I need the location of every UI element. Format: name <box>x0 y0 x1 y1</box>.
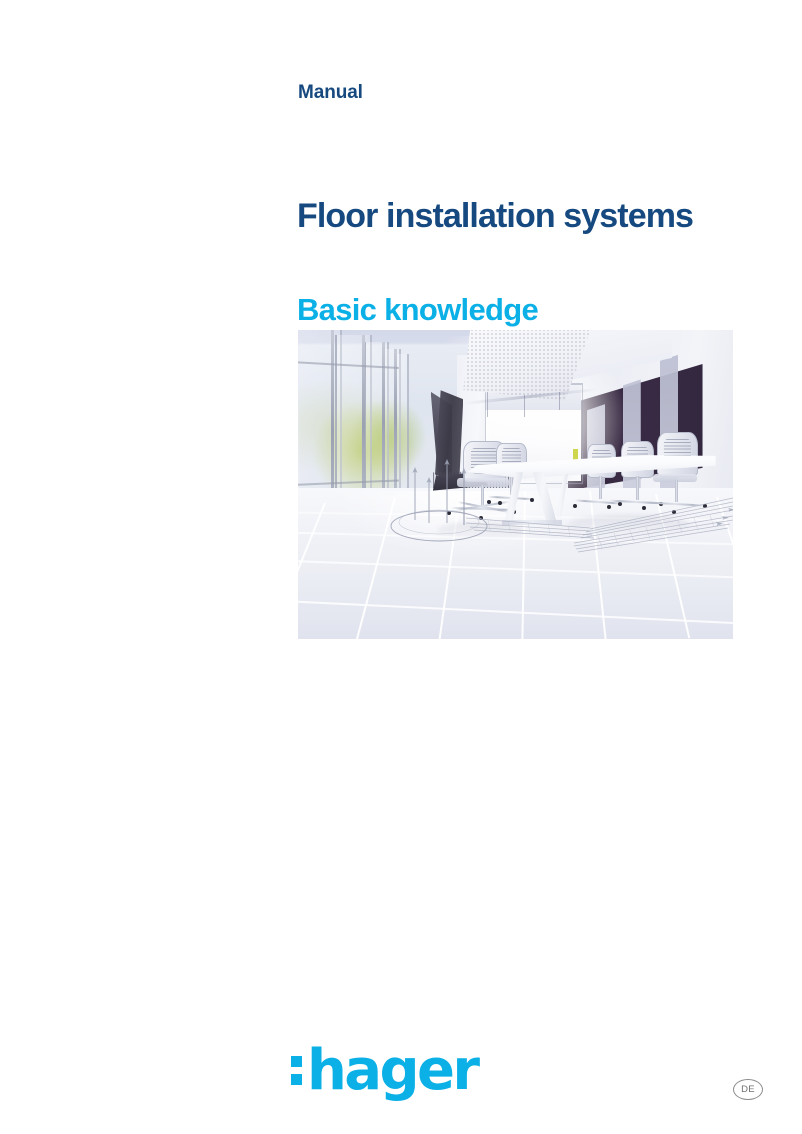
cover-page: Manual Floor installation systems Basic … <box>0 0 802 1134</box>
cover-image <box>298 330 733 639</box>
cable-risers <box>412 459 466 525</box>
floor-outlet-box-inner-ring <box>399 510 479 534</box>
trunking-end-arrows <box>716 508 733 526</box>
cover-image-scene <box>298 330 733 639</box>
logo-wordmark: hager <box>307 1043 477 1099</box>
underfloor-installation-wireframe <box>298 330 733 639</box>
page-title: Floor installation systems <box>297 198 693 235</box>
page-subtitle: Basic knowledge <box>297 293 538 327</box>
document-kind-label: Manual <box>298 83 363 104</box>
hager-logo: hager <box>291 1040 477 1102</box>
language-badge: DE <box>733 1079 763 1100</box>
floor-duct <box>466 518 594 538</box>
logo-colon-icon <box>291 1056 302 1087</box>
cable-trunking-runs <box>574 498 733 552</box>
